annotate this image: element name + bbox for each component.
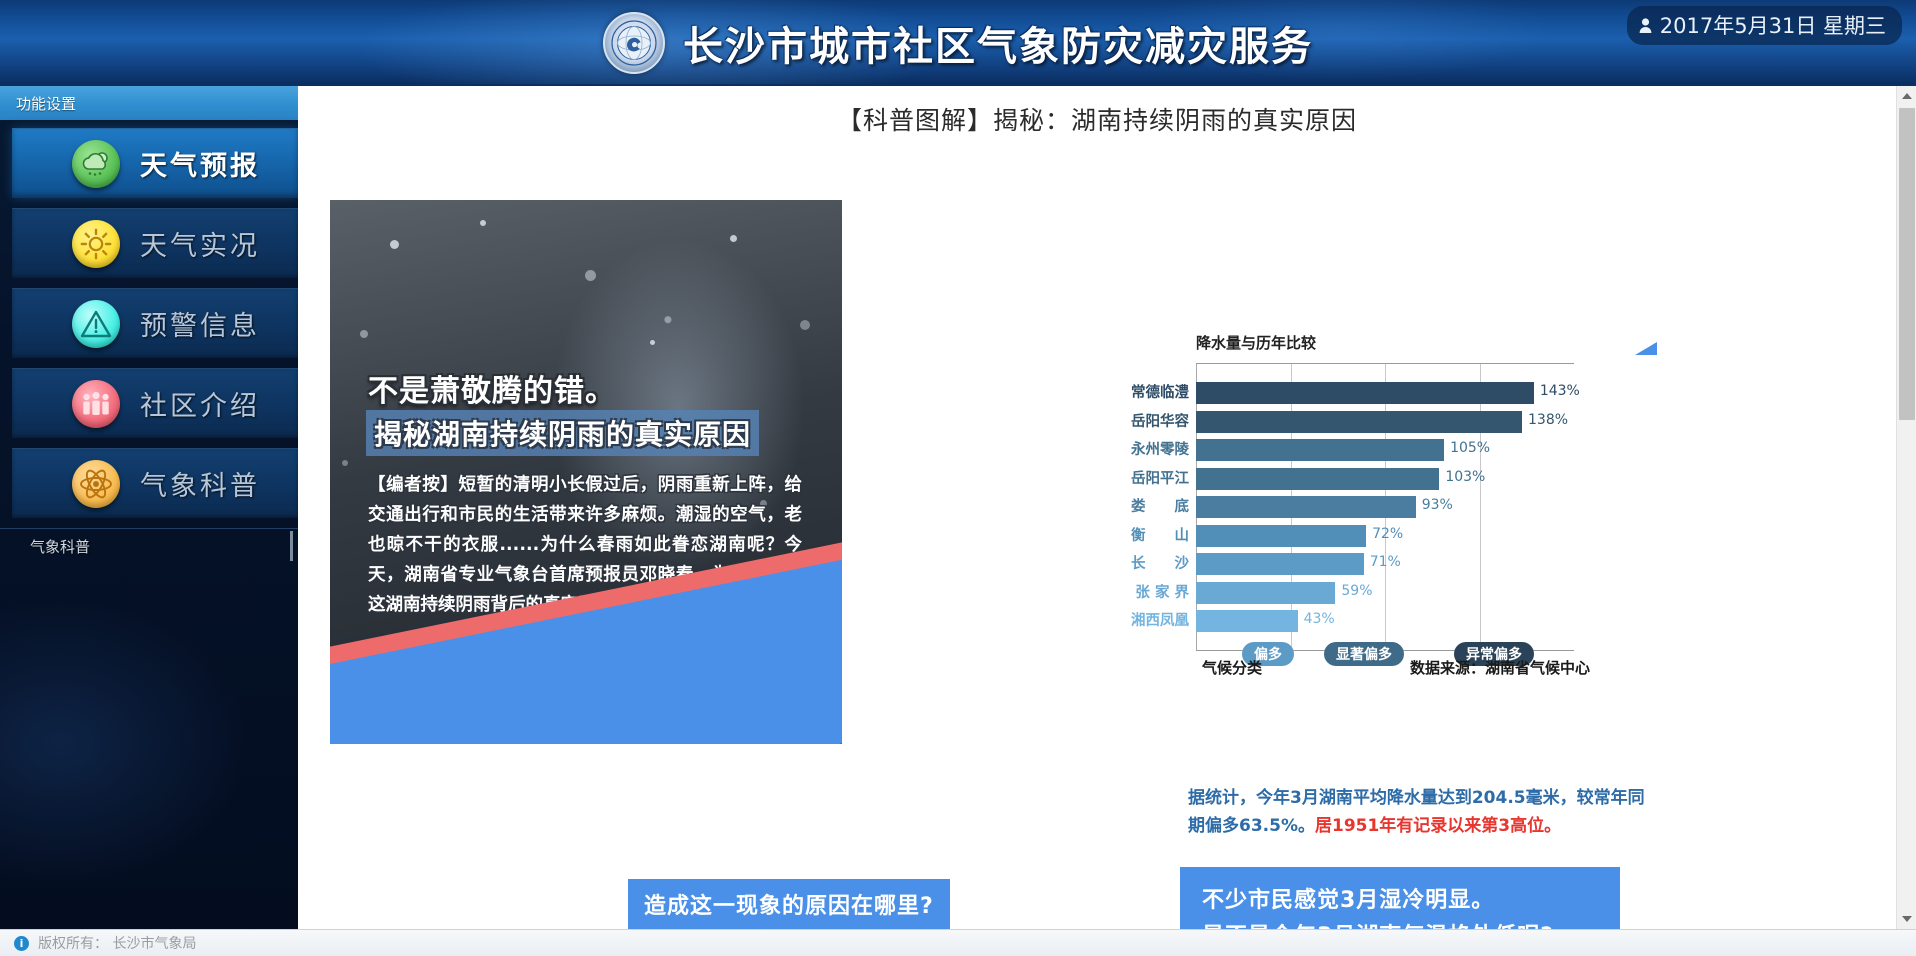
article-hero-image: 不是萧敬腾的错。 揭秘湖南持续阴雨的真实原因 【编者按】短暂的清明小长假过后，阴… [330,200,842,744]
sidebar-panel-title-text: 功能设置 [16,93,76,114]
chart-category-label: 衡 山 [1131,524,1189,545]
section-banner-right-line2: 是不是今年3月湖南气温格外低呢? [1202,919,1598,929]
chart-plot-area: 常德临澧143%岳阳华容138%永州零陵105%岳阳平江103%娄 底93%衡 … [1196,363,1574,651]
chart-category-label: 娄 底 [1131,495,1189,516]
statistics-summary-highlight: 居1951年有记录以来第3高位。 [1315,816,1561,836]
sidebar-item-meteorology-science[interactable]: 气象科普 [12,448,298,518]
page-header: 长沙市城市社区气象防灾减灾服务 2017年5月31日 星期三 [0,0,1916,86]
chart-category-label: 湘西凤凰 [1131,609,1189,630]
date-display: 2017年5月31日 星期三 [1627,6,1902,45]
chart-legend-pill: 显著偏多 [1324,642,1404,666]
sidebar-item-label: 天气实况 [140,224,260,263]
scroll-down-button[interactable] [1897,909,1916,929]
chart-bar [1196,610,1298,632]
breadcrumb-text: 气象科普 [30,536,90,557]
sidebar-item-warning-info[interactable]: 预警信息 [12,288,298,358]
chart-category-label: 长 沙 [1131,552,1189,573]
people-group-icon [72,380,120,428]
hero-headline-secondary: 揭秘湖南持续阴雨的真实原因 [366,410,759,456]
chart-title: 降水量与历年比较 [1196,332,1598,353]
chart-axis-caption: 气候分类 [1202,657,1262,678]
sidebar-item-community-intro[interactable]: 社区介绍 [12,368,298,438]
warning-triangle-icon [72,300,120,348]
china-meteorological-administration-logo [603,12,665,74]
decorative-triangle-icon [1635,342,1657,355]
sidebar-item-label: 预警信息 [140,304,260,343]
chart-bar-row: 常德临澧143% [1196,382,1574,404]
statistics-summary: 据统计，今年3月湖南平均降水量达到204.5毫米，较常年同期偏多63.5%。居1… [1188,785,1658,840]
section-banner-right-line1: 不少市民感觉3月湿冷明显。 [1202,883,1598,919]
precipitation-comparison-chart: 降水量与历年比较 常德临澧143%岳阳华容138%永州零陵105%岳阳平江103… [1138,332,1598,682]
chart-category-label: 常德临澧 [1131,381,1189,402]
main-content: 【科普图解】揭秘：湖南持续阴雨的真实原因 不是萧敬腾的错。 揭秘湖南持续阴雨的真… [298,86,1896,929]
chevron-down-icon [1902,916,1912,922]
chevron-up-icon [1902,93,1912,99]
hero-headline-primary: 不是萧敬腾的错。 [368,366,616,410]
info-icon: i [14,936,29,951]
chart-bar [1196,468,1439,490]
page-footer: i 版权所有： 长沙市气象局 [0,929,1916,956]
atom-icon [72,460,120,508]
sidebar-item-weather-forecast[interactable]: 天气预报 [12,128,298,198]
chart-bar-row: 岳阳平江103% [1196,468,1574,490]
chart-bar [1196,582,1335,604]
chart-bar [1196,496,1416,518]
page-title: 长沙市城市社区气象防灾减灾服务 [683,14,1313,72]
chart-value-label: 143% [1540,383,1580,399]
chart-source-note: 数据来源：湖南省气候中心 [1410,657,1590,678]
footer-text: 版权所有： 长沙市气象局 [38,933,196,953]
chart-bar [1196,553,1364,575]
chart-category-label: 岳阳华容 [1131,410,1189,431]
section-banner-right: 不少市民感觉3月湿冷明显。 是不是今年3月湖南气温格外低呢? [1180,867,1620,929]
section-banner-left: 造成这一现象的原因在哪里? [628,879,950,929]
sidebar-item-live-weather[interactable]: 天气实况 [12,208,298,278]
cloud-sun-icon [72,140,120,188]
sun-icon [72,220,120,268]
chart-bar-row: 衡 山72% [1196,525,1574,547]
scrollbar-thumb[interactable] [1899,108,1915,420]
chart-bar [1196,525,1366,547]
chart-bar-row: 湘西凤凰43% [1196,610,1574,632]
chart-value-label: 138% [1528,412,1568,428]
person-icon [1639,18,1652,33]
sidebar-item-label: 社区介绍 [140,384,260,423]
sidebar-item-label: 气象科普 [140,464,260,503]
chart-bar-row: 长 沙71% [1196,553,1574,575]
article-title: 【科普图解】揭秘：湖南持续阴雨的真实原因 [298,86,1896,137]
main-scrollbar[interactable] [1896,86,1916,929]
chart-value-label: 103% [1445,469,1485,485]
sidebar-menu: 天气预报 天气实况 [0,120,298,518]
date-text: 2017年5月31日 星期三 [1660,10,1886,40]
sidebar-item-label: 天气预报 [140,144,260,183]
chart-bar [1196,411,1522,433]
sidebar: 功能设置 天气预报 [0,86,298,929]
chart-value-label: 59% [1341,583,1372,599]
chart-bar-row: 张 家 界59% [1196,582,1574,604]
chart-category-label: 岳阳平江 [1131,467,1189,488]
chart-value-label: 71% [1370,554,1401,570]
chart-bar-row: 永州零陵105% [1196,439,1574,461]
breadcrumb: 气象科普 [0,528,298,564]
application-root: 长沙市城市社区气象防灾减灾服务 2017年5月31日 星期三 功能设置 [0,0,1916,956]
chart-value-label: 105% [1450,440,1490,456]
scroll-up-button[interactable] [1897,86,1916,106]
chart-bar [1196,439,1444,461]
chart-value-label: 43% [1304,611,1335,627]
breadcrumb-caret [290,531,293,561]
chart-value-label: 93% [1422,497,1453,513]
sidebar-panel-title: 功能设置 [0,86,298,120]
chart-bar [1196,382,1534,404]
chart-value-label: 72% [1372,526,1403,542]
chart-category-label: 张 家 界 [1135,581,1189,602]
chart-bar-row: 岳阳华容138% [1196,411,1574,433]
chart-bar-row: 娄 底93% [1196,496,1574,518]
chart-category-label: 永州零陵 [1131,438,1189,459]
